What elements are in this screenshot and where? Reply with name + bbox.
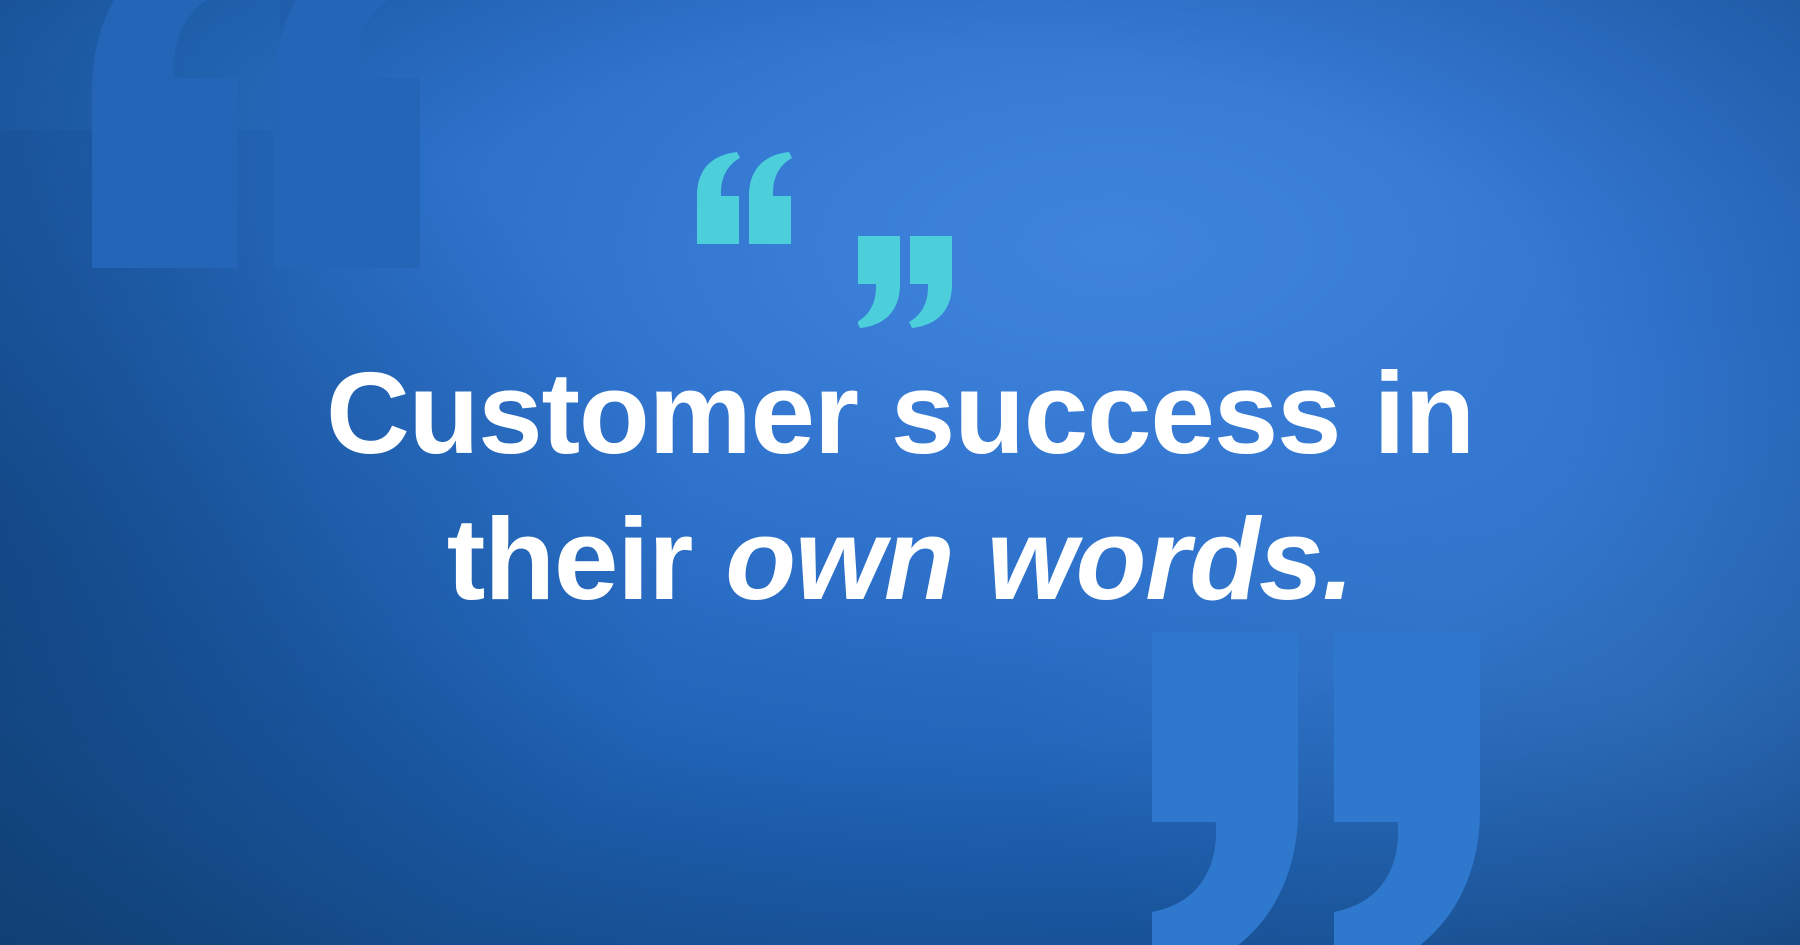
headline: Customer success in their own words. — [0, 340, 1800, 632]
quote-banner: Customer success in their own words. — [0, 0, 1800, 945]
headline-line-1: Customer success in — [0, 340, 1800, 486]
headline-line-2-plain: their — [447, 494, 725, 624]
headline-line-2-emphasis: own words. — [725, 494, 1353, 624]
headline-line-2: their own words. — [0, 486, 1800, 632]
